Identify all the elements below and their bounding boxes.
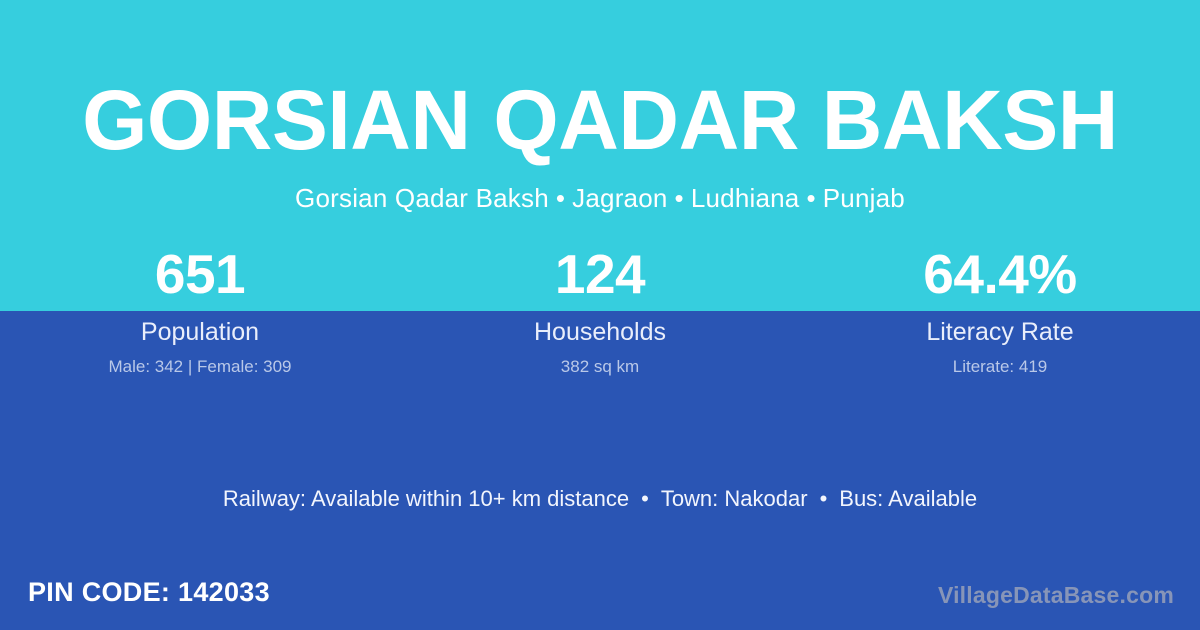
page-title: GORSIAN QADAR BAKSH <box>0 78 1200 162</box>
breadcrumb-district: Ludhiana <box>691 183 800 213</box>
facility-separator-2: • <box>808 486 840 511</box>
breadcrumb-state: Punjab <box>823 183 905 213</box>
stat-literacy-rate: 64.4% Literacy Rate Literate: 419 <box>800 246 1200 377</box>
breadcrumb-separator-3: • <box>799 183 822 213</box>
facility-railway: Railway: Available within 10+ km distanc… <box>223 486 629 511</box>
stat-households-label: Households <box>400 317 800 347</box>
stat-population: 651 Population Male: 342 | Female: 309 <box>0 246 400 377</box>
stat-literacy-rate-label: Literacy Rate <box>800 317 1200 347</box>
breadcrumb: Gorsian Qadar Baksh•Jagraon•Ludhiana•Pun… <box>0 183 1200 214</box>
pin-code-label: PIN CODE: 142033 <box>28 576 270 608</box>
facility-separator-1: • <box>629 486 661 511</box>
stat-literacy-rate-value: 64.4% <box>800 246 1200 310</box>
stat-population-label: Population <box>0 317 400 347</box>
facilities-line: Railway: Available within 10+ km distanc… <box>0 486 1200 512</box>
facility-town: Town: Nakodar <box>661 486 808 511</box>
stat-literacy-rate-sub: Literate: 419 <box>800 357 1200 377</box>
village-info-banner: GORSIAN QADAR BAKSH Gorsian Qadar Baksh•… <box>0 0 1200 630</box>
stat-households-sub: 382 sq km <box>400 357 800 377</box>
stats-row: 651 Population Male: 342 | Female: 309 1… <box>0 246 1200 377</box>
brand-watermark: VillageDataBase.com <box>938 582 1174 610</box>
breadcrumb-block: Jagraon <box>572 183 667 213</box>
facility-bus: Bus: Available <box>839 486 977 511</box>
stat-population-sub: Male: 342 | Female: 309 <box>0 357 400 377</box>
breadcrumb-separator-1: • <box>549 183 572 213</box>
stat-households: 124 Households 382 sq km <box>400 246 800 377</box>
stat-households-value: 124 <box>400 246 800 310</box>
stat-population-value: 651 <box>0 246 400 310</box>
breadcrumb-separator-2: • <box>668 183 691 213</box>
breadcrumb-village: Gorsian Qadar Baksh <box>295 183 549 213</box>
